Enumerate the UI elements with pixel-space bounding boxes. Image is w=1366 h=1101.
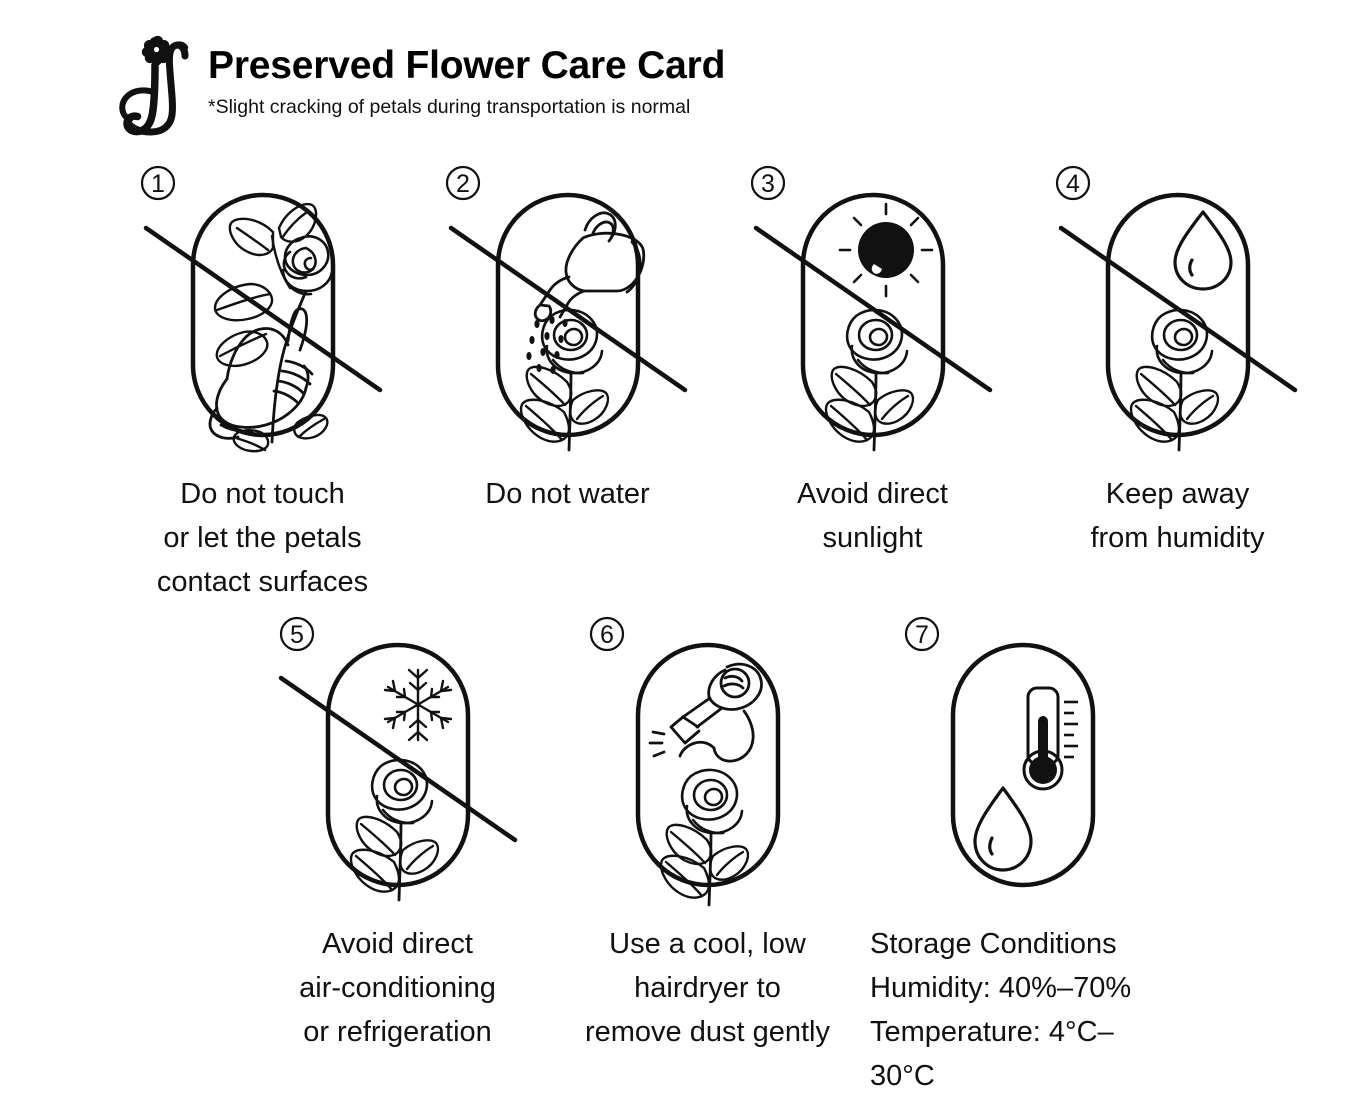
- step-number-3: 3: [752, 167, 784, 199]
- step-number-6: 6: [591, 618, 623, 650]
- droplet-glyph: [975, 788, 1031, 870]
- instruction-row-1: 1: [0, 160, 1330, 604]
- svg-text:2: 2: [456, 170, 470, 198]
- step-number-1: 1: [142, 167, 174, 199]
- instruction-card-7: 7: [870, 610, 1175, 1098]
- svg-text:5: 5: [290, 621, 304, 649]
- instruction-row-2: 5: [0, 610, 1175, 1098]
- instruction-card-5: 5: [245, 610, 550, 1098]
- instruction-card-4: 4: [1025, 160, 1330, 604]
- droplet-glyph: [1175, 212, 1231, 289]
- step-number-7: 7: [906, 618, 938, 650]
- instruction-card-6: 6: [555, 610, 860, 1098]
- instruction-caption-7: Storage Conditions Humidity: 40%–70% Tem…: [870, 922, 1175, 1098]
- page-title: Preserved Flower Care Card: [208, 46, 725, 87]
- prohibition-slash: [146, 228, 380, 390]
- step-number-4: 4: [1057, 167, 1089, 199]
- snowflake-glyph: [385, 670, 451, 740]
- jf-monogram-logo: [108, 32, 200, 136]
- page-subtitle: *Slight cracking of petals during transp…: [208, 96, 725, 119]
- svg-text:6: 6: [600, 621, 614, 649]
- step-number-2: 2: [447, 167, 479, 199]
- instruction-caption-1: Do not touch or let the petals contact s…: [157, 472, 368, 604]
- sun-glyph: [840, 204, 932, 296]
- step-number-5: 5: [281, 618, 313, 650]
- water-droplet-rose-icon: 4: [1053, 160, 1303, 460]
- thermometer-glyph: [1024, 688, 1078, 789]
- instruction-caption-3: Avoid direct sunlight: [797, 472, 948, 560]
- svg-text:7: 7: [915, 621, 929, 649]
- svg-text:1: 1: [151, 170, 165, 198]
- instruction-caption-6: Use a cool, low hairdryer to remove dust…: [585, 922, 830, 1054]
- prohibition-slash: [451, 228, 685, 390]
- card-header: Preserved Flower Care Card *Slight crack…: [108, 32, 725, 136]
- instruction-card-2: 2: [415, 160, 720, 604]
- sun-rose-icon: 3: [748, 160, 998, 460]
- prohibition-slash: [281, 678, 515, 840]
- instruction-caption-2: Do not water: [485, 472, 649, 516]
- watering-can-rose-icon: 2: [443, 160, 693, 460]
- instruction-card-1: 1: [110, 160, 415, 604]
- svg-text:4: 4: [1066, 170, 1080, 198]
- instruction-card-3: 3: [720, 160, 1025, 604]
- snowflake-rose-icon: 5: [273, 610, 523, 910]
- hand-touching-rose-icon: 1: [138, 160, 388, 460]
- svg-text:3: 3: [761, 170, 775, 198]
- hairdryer-rose-icon: 6: [583, 610, 833, 910]
- instruction-caption-5: Avoid direct air-conditioning or refrige…: [299, 922, 496, 1054]
- thermometer-droplet-icon: 7: [898, 610, 1148, 910]
- instruction-caption-4: Keep away from humidity: [1090, 472, 1264, 560]
